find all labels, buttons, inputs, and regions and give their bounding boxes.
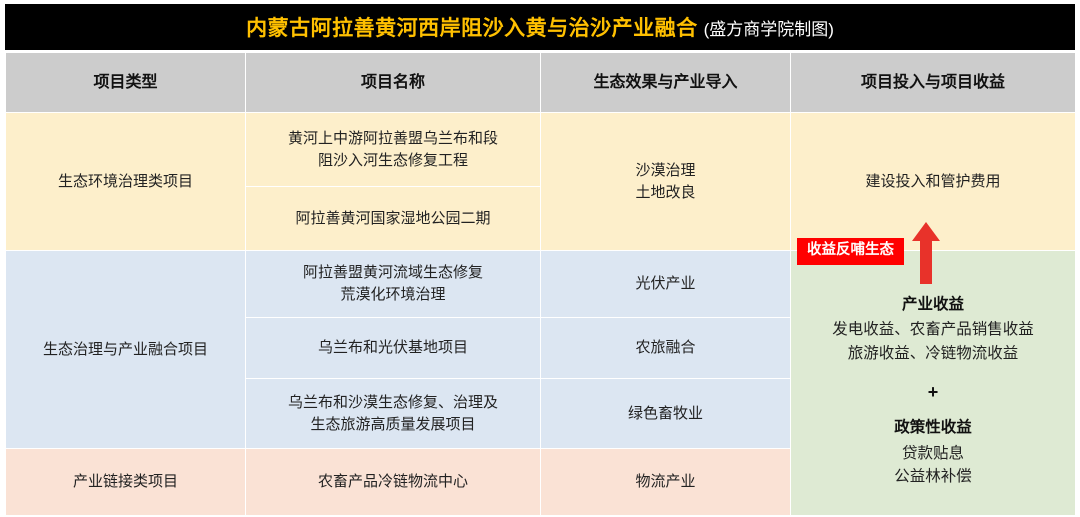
cell-project-name-2c: 乌兰布和沙漠生态修复、治理及 生态旅游高质量发展项目 [246,379,541,449]
cell-eco-effect-1: 沙漠治理 土地改良 [541,113,791,251]
page-title: 内蒙古阿拉善黄河西岸阻沙入黄与治沙产业融合 [246,12,698,42]
policy-revenue-line2: 公益林补偿 [805,465,1061,488]
project-table: 项目类型 项目名称 生态效果与产业导入 项目投入与项目收益 生态环境治理类项目 … [5,52,1076,516]
cell-eco-effect-2c: 绿色畜牧业 [541,379,791,449]
policy-revenue-line1: 贷款贴息 [805,442,1061,465]
table-row: 生态治理与产业融合项目 阿拉善盟黄河流域生态修复 荒漠化环境治理 光伏产业 产业… [6,251,1076,318]
table-header-row: 项目类型 项目名称 生态效果与产业导入 项目投入与项目收益 [6,53,1076,113]
cell-project-name-1a: 黄河上中游阿拉善盟乌兰布和段 阻沙入河生态修复工程 [246,113,541,187]
project-name-1a-line1: 黄河上中游阿拉善盟乌兰布和段 [288,130,498,147]
eco-effect-1-line1: 沙漠治理 [635,162,695,179]
cell-project-name-2b: 乌兰布和光伏基地项目 [246,318,541,379]
cell-project-name-2a: 阿拉善盟黄河流域生态修复 荒漠化环境治理 [246,251,541,318]
cell-category-industry-chain: 产业链接类项目 [6,449,246,516]
project-name-2c-line1: 乌兰布和沙漠生态修复、治理及 [288,394,498,411]
project-name-1a-line2: 阻沙入河生态修复工程 [318,152,468,169]
project-name-2a-line2: 荒漠化环境治理 [340,286,445,303]
industry-revenue-title: 产业收益 [805,294,1061,316]
column-header-project-type: 项目类型 [6,53,246,113]
cell-eco-effect-3a: 物流产业 [541,449,791,516]
revenue-content: 产业收益 发电收益、农畜产品销售收益 旅游收益、冷链物流收益 + 政策性收益 贷… [797,268,1069,498]
cell-project-name-1b: 阿拉善黄河国家湿地公园二期 [246,187,541,251]
industry-revenue-line1: 发电收益、农畜产品销售收益 [805,318,1061,341]
cell-eco-effect-2a: 光伏产业 [541,251,791,318]
cell-investment-1: 建设投入和管护费用 [791,113,1076,251]
plus-sign: + [805,379,1061,405]
title-credit: (盛方商学院制图) [704,15,834,40]
industry-revenue-line2: 旅游收益、冷链物流收益 [805,342,1061,365]
cell-revenue-panel: 产业收益 发电收益、农畜产品销售收益 旅游收益、冷链物流收益 + 政策性收益 贷… [791,251,1076,516]
infographic-table: 内蒙古阿拉善黄河西岸阻沙入黄与治沙产业融合 (盛方商学院制图) 项目类型 项目名… [0,0,1080,517]
cell-eco-effect-2b: 农旅融合 [541,318,791,379]
cell-project-name-3a: 农畜产品冷链物流中心 [246,449,541,516]
column-header-investment-return: 项目投入与项目收益 [791,53,1076,113]
cell-category-eco-industry-fusion: 生态治理与产业融合项目 [6,251,246,449]
column-header-project-name: 项目名称 [246,53,541,113]
table-row: 生态环境治理类项目 黄河上中游阿拉善盟乌兰布和段 阻沙入河生态修复工程 沙漠治理… [6,113,1076,187]
column-header-eco-effect: 生态效果与产业导入 [541,53,791,113]
eco-effect-1-line2: 土地改良 [635,184,695,201]
cell-category-eco-governance: 生态环境治理类项目 [6,113,246,251]
project-name-2c-line2: 生态旅游高质量发展项目 [310,416,475,433]
project-name-2a-line1: 阿拉善盟黄河流域生态修复 [303,264,483,281]
policy-revenue-title: 政策性收益 [805,417,1061,439]
title-banner: 内蒙古阿拉善黄河西岸阻沙入黄与治沙产业融合 (盛方商学院制图) [5,4,1075,50]
